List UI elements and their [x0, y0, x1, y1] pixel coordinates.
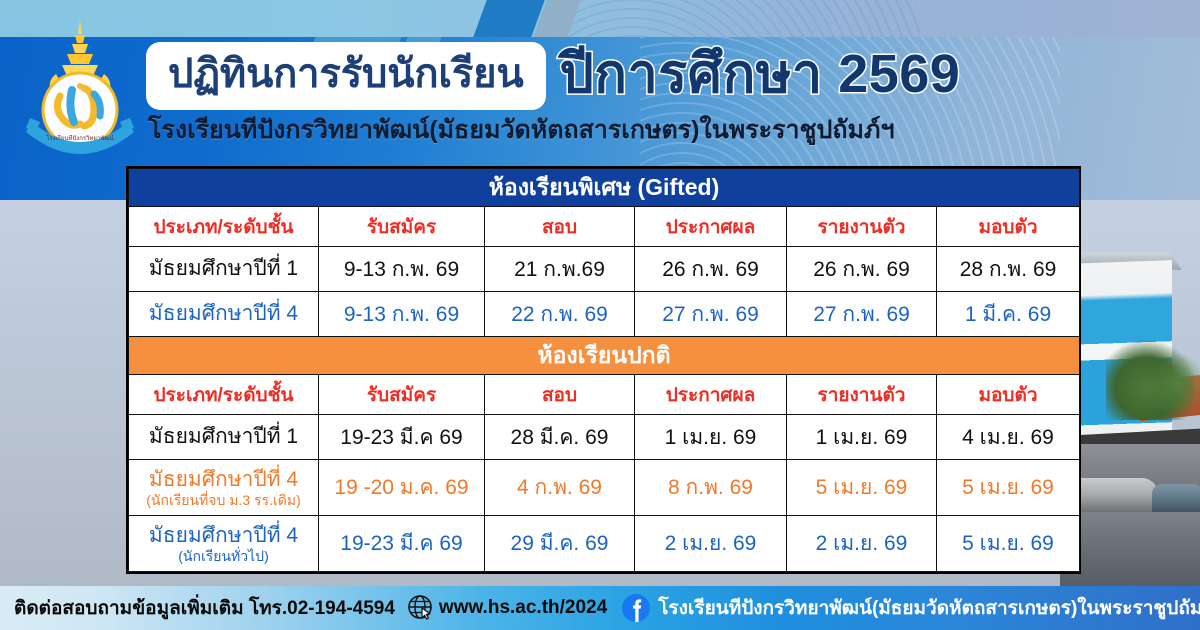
col-header-report: รายงานตัว — [787, 207, 937, 247]
footer-contact-text: ติดต่อสอบถามข้อมูลเพิ่มเติม โทร.02-194-4… — [14, 593, 395, 623]
col-header-apply: รับสมัคร — [319, 207, 485, 247]
row-report: 26 ก.พ. 69 — [787, 247, 937, 292]
row-level: มัธยมศึกษาปีที่ 1 — [129, 247, 319, 292]
page-title-year: ปีการศึกษา 2569 — [560, 47, 961, 105]
col-header-exam: สอบ — [485, 207, 635, 247]
row-level-text: มัธยมศึกษาปีที่ 4 — [149, 524, 298, 547]
column-header-row-gifted: ประเภท/ระดับชั้น รับสมัคร สอบ ประกาศผล ร… — [129, 207, 1080, 247]
row-level: มัธยมศึกษาปีที่ 4 (นักเรียนที่จบ ม.3 รร.… — [129, 460, 319, 516]
col-header-type: ประเภท/ระดับชั้น — [129, 207, 319, 247]
top-decorative-band — [0, 0, 1200, 38]
row-apply: 19 -20 ม.ค. 69 — [319, 460, 485, 516]
row-enroll: 5 เม.ย. 69 — [937, 460, 1080, 516]
table-row: มัธยมศึกษาปีที่ 1 19-23 มี.ค 69 28 มี.ค.… — [129, 415, 1080, 460]
row-results: 2 เม.ย. 69 — [635, 516, 787, 572]
row-level-text: มัธยมศึกษาปีที่ 4 — [149, 468, 298, 491]
row-enroll: 28 ก.พ. 69 — [937, 247, 1080, 292]
column-header-row-normal: ประเภท/ระดับชั้น รับสมัคร สอบ ประกาศผล ร… — [129, 375, 1080, 415]
table-row: มัธยมศึกษาปีที่ 4 (นักเรียนทั่วไป) 19-23… — [129, 516, 1080, 572]
row-enroll: 5 เม.ย. 69 — [937, 516, 1080, 572]
row-report: 2 เม.ย. 69 — [787, 516, 937, 572]
row-enroll: 1 มี.ค. 69 — [937, 292, 1080, 337]
row-level-note: (นักเรียนทั่วไป) — [129, 548, 318, 564]
row-level: มัธยมศึกษาปีที่ 4 — [129, 292, 319, 337]
school-name-subtitle: โรงเรียนทีปังกรวิทยาพัฒน์(มัธยมวัดหัตถสา… — [148, 110, 895, 150]
row-level: มัธยมศึกษาปีที่ 4 (นักเรียนทั่วไป) — [129, 516, 319, 572]
row-report: 5 เม.ย. 69 — [787, 460, 937, 516]
row-apply: 19-23 มี.ค 69 — [319, 415, 485, 460]
col-header-results: ประกาศผล — [635, 207, 787, 247]
row-apply: 9-13 ก.พ. 69 — [319, 247, 485, 292]
table-row: มัธยมศึกษาปีที่ 1 9-13 ก.พ. 69 21 ก.พ.69… — [129, 247, 1080, 292]
table-row: มัธยมศึกษาปีที่ 4 (นักเรียนที่จบ ม.3 รร.… — [129, 460, 1080, 516]
col-header-exam: สอบ — [485, 375, 635, 415]
admission-calendar-table: ห้องเรียนพิเศษ (Gifted) ประเภท/ระดับชั้น… — [128, 168, 1080, 572]
col-header-report: รายงานตัว — [787, 375, 937, 415]
svg-text:โรงเรียนทีปังกรวิทยาพัฒน์: โรงเรียนทีปังกรวิทยาพัฒน์ — [46, 134, 114, 142]
footer-bar: ติดต่อสอบถามข้อมูลเพิ่มเติม โทร.02-194-4… — [0, 586, 1200, 630]
row-results: 8 ก.พ. 69 — [635, 460, 787, 516]
col-header-enroll: มอบตัว — [937, 375, 1080, 415]
calendar-table-container: ห้องเรียนพิเศษ (Gifted) ประเภท/ระดับชั้น… — [126, 166, 1081, 574]
school-emblem: โรงเรียนทีปังกรวิทยาพัฒน์ — [16, 18, 144, 168]
facebook-icon[interactable] — [621, 593, 651, 623]
col-header-type: ประเภท/ระดับชั้น — [129, 375, 319, 415]
row-level: มัธยมศึกษาปีที่ 1 — [129, 415, 319, 460]
row-exam: 28 มี.ค. 69 — [485, 415, 635, 460]
row-exam: 21 ก.พ.69 — [485, 247, 635, 292]
table-row: มัธยมศึกษาปีที่ 4 9-13 ก.พ. 69 22 ก.พ. 6… — [129, 292, 1080, 337]
footer-website-url[interactable]: www.hs.ac.th/2024 — [439, 597, 607, 619]
row-exam: 29 มี.ค. 69 — [485, 516, 635, 572]
col-header-apply: รับสมัคร — [319, 375, 485, 415]
row-exam: 4 ก.พ. 69 — [485, 460, 635, 516]
section-band-normal: ห้องเรียนปกติ — [129, 337, 1080, 375]
poster-root: โรงเรียนทีปังกรวิทยาพัฒน์ ปฏิทินการรับนั… — [0, 0, 1200, 630]
row-enroll: 4 เม.ย. 69 — [937, 415, 1080, 460]
globe-icon — [407, 594, 435, 622]
row-results: 27 ก.พ. 69 — [635, 292, 787, 337]
page-title-pill: ปฏิทินการรับนักเรียน — [146, 42, 546, 110]
row-apply: 19-23 มี.ค 69 — [319, 516, 485, 572]
row-apply: 9-13 ก.พ. 69 — [319, 292, 485, 337]
row-report: 27 ก.พ. 69 — [787, 292, 937, 337]
col-header-enroll: มอบตัว — [937, 207, 1080, 247]
section-band-label-gifted: ห้องเรียนพิเศษ (Gifted) — [129, 169, 1080, 207]
row-results: 1 เม.ย. 69 — [635, 415, 787, 460]
footer-facebook-page[interactable]: โรงเรียนทีปังกรวิทยาพัฒน์(มัธยมวัดหัตถสา… — [658, 593, 1200, 623]
row-exam: 22 ก.พ. 69 — [485, 292, 635, 337]
row-level-note: (นักเรียนที่จบ ม.3 รร.เดิม) — [129, 492, 318, 508]
title-row: ปฏิทินการรับนักเรียน ปีการศึกษา 2569 — [146, 42, 960, 110]
section-band-label-normal: ห้องเรียนปกติ — [129, 337, 1080, 375]
section-band-gifted: ห้องเรียนพิเศษ (Gifted) — [129, 169, 1080, 207]
row-report: 1 เม.ย. 69 — [787, 415, 937, 460]
row-results: 26 ก.พ. 69 — [635, 247, 787, 292]
col-header-results: ประกาศผล — [635, 375, 787, 415]
